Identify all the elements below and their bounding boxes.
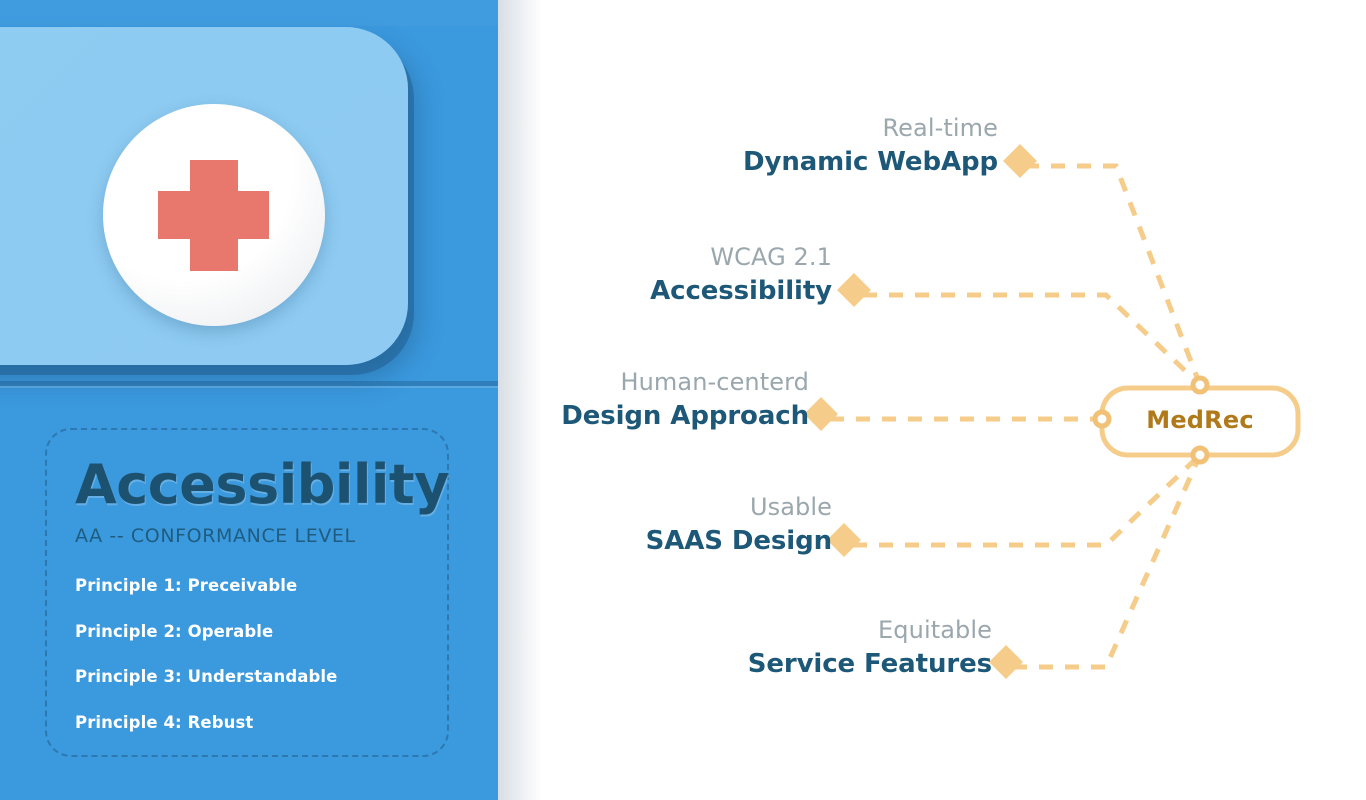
node-saas-design[interactable]: Usable SAAS Design <box>498 495 832 554</box>
node-title-label: Accessibility <box>498 278 832 304</box>
connector-saas-design <box>853 455 1200 545</box>
left-panel: Accessibility AA -- CONFORMANCE LEVEL Pr… <box>0 0 498 800</box>
hub-dot-top <box>1193 378 1207 392</box>
connector-accessibility <box>863 295 1200 385</box>
panel-divider-highlight <box>0 386 498 388</box>
node-title-label: Dynamic WebApp <box>650 149 998 175</box>
hub-dot-bottom <box>1193 448 1207 462</box>
node-markers <box>804 144 1037 679</box>
app-icon-card-wrapper <box>0 27 410 367</box>
node-dynamic-webapp[interactable]: Real-time Dynamic WebApp <box>650 116 998 175</box>
panel-top-band <box>0 0 498 26</box>
list-item: Principle 4: Rebust <box>75 713 415 732</box>
diamond-marker-dynamic-webapp <box>1003 144 1037 178</box>
node-service-features[interactable]: Equitable Service Features <box>638 618 992 677</box>
list-item: Principle 3: Understandable <box>75 667 415 686</box>
list-item: Principle 2: Operable <box>75 622 415 641</box>
connector-dynamic-webapp <box>1025 166 1200 385</box>
node-sub-label: Usable <box>498 495 832 519</box>
medical-cross-icon-bar <box>158 191 269 239</box>
node-design-approach[interactable]: Human-centerd Design Approach <box>498 370 809 429</box>
diamond-marker-service-features <box>989 645 1023 679</box>
node-sub-label: Real-time <box>650 116 998 140</box>
screenshot-root: Accessibility AA -- CONFORMANCE LEVEL Pr… <box>0 0 1366 800</box>
node-sub-label: Equitable <box>638 618 992 642</box>
diamond-marker-saas-design <box>827 523 861 557</box>
node-sub-label: WCAG 2.1 <box>498 245 832 269</box>
node-sub-label: Human-centerd <box>498 370 809 394</box>
node-accessibility[interactable]: WCAG 2.1 Accessibility <box>498 245 832 304</box>
diamond-marker-design-approach <box>804 397 838 431</box>
medrec-diagram: Real-time Dynamic WebApp WCAG 2.1 Access… <box>498 0 1366 800</box>
hub-node-label[interactable]: MedRec <box>1104 406 1296 434</box>
conformance-level-label: AA -- CONFORMANCE LEVEL <box>75 525 356 547</box>
page-title: Accessibility <box>75 458 449 512</box>
node-title-label: SAAS Design <box>498 528 832 554</box>
node-title-label: Design Approach <box>498 403 809 429</box>
list-item: Principle 1: Preceivable <box>75 576 415 595</box>
connector-service-features <box>1013 455 1200 667</box>
diamond-marker-accessibility <box>837 273 871 307</box>
principles-list: Principle 1: Preceivable Principle 2: Op… <box>75 576 415 758</box>
node-title-label: Service Features <box>638 651 992 677</box>
